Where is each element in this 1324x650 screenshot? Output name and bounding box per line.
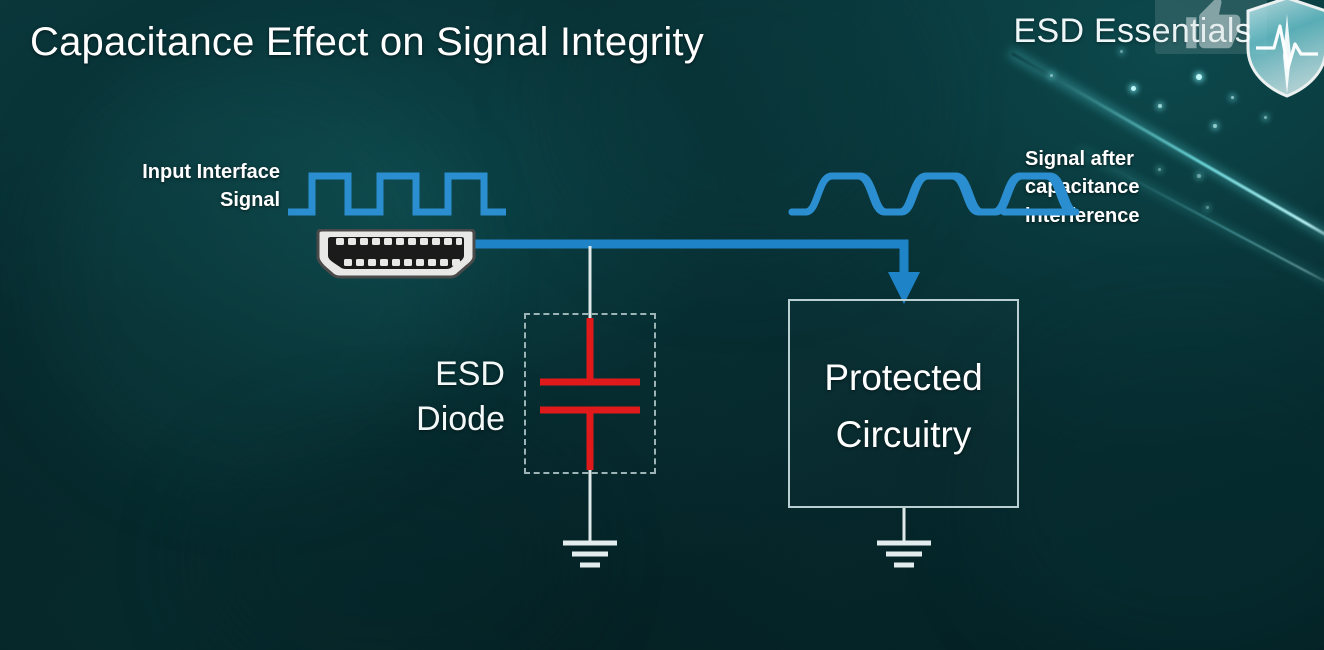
schematic-layer	[0, 0, 1324, 650]
ground-symbol-icon	[877, 543, 931, 565]
protected-circuitry-label-line2: Circuitry	[790, 406, 1017, 463]
signal-trace	[472, 244, 920, 304]
hdmi-connector-icon	[310, 229, 482, 279]
protected-circuitry-label-line1: Protected	[790, 349, 1017, 406]
output-waveform-rounded	[792, 176, 1076, 212]
input-waveform-square	[288, 176, 506, 212]
esd-diode-boundary	[524, 313, 656, 474]
protected-circuitry-box: Protected Circuitry	[788, 299, 1019, 508]
protected-circuitry-label: Protected Circuitry	[790, 349, 1017, 464]
slide-canvas: Capacitance Effect on Signal Integrity E…	[0, 0, 1324, 650]
ground-symbol-icon	[563, 543, 617, 565]
